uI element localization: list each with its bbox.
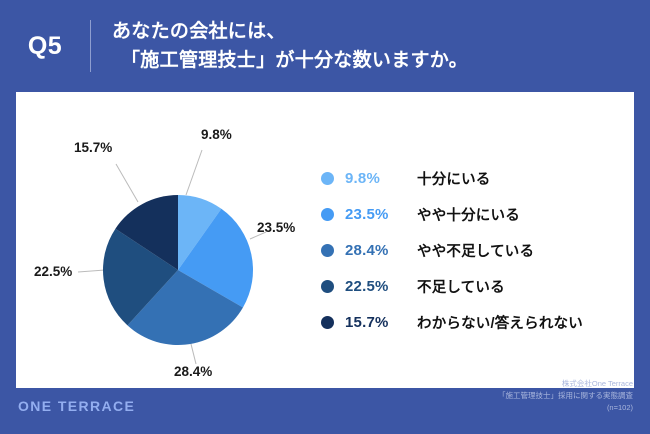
title-line-2: 「施工管理技士」が十分な数いますか。 [112, 46, 468, 75]
pie-slices [103, 195, 253, 345]
survey-credit: 株式会社One Terrace 「施工管理技士」採用に関する実態調査 (n=10… [498, 378, 633, 414]
legend-label: わからない/答えられない [417, 312, 583, 333]
legend-percent: 23.5% [345, 206, 417, 223]
title-line-1: あなたの会社には、 [112, 21, 286, 42]
pie-label-jubun-ni-iru: 9.8% [201, 127, 232, 142]
legend-dot-icon [321, 280, 334, 293]
legend-dot-icon [321, 172, 334, 185]
chart-legend: 9.8% 十分にいる 23.5% やや十分にいる 28.4% やや不足している … [321, 160, 631, 340]
legend-label: やや十分にいる [417, 204, 520, 225]
legend-item-jubun-ni-iru: 9.8% 十分にいる [321, 160, 631, 196]
pie-chart-svg [16, 92, 336, 388]
pie-label-yaya-fusoku: 28.4% [174, 364, 212, 379]
legend-dot-icon [321, 316, 334, 329]
legend-label: やや不足している [417, 240, 534, 261]
pie-label-fusoku: 22.5% [34, 264, 72, 279]
legend-percent: 9.8% [345, 170, 417, 187]
legend-percent: 28.4% [345, 242, 417, 259]
legend-percent: 15.7% [345, 314, 417, 331]
legend-percent: 22.5% [345, 278, 417, 295]
pie-label-wakaranai: 15.7% [74, 140, 112, 155]
legend-item-fusoku: 22.5% 不足している [321, 268, 631, 304]
chart-card: 9.8% 23.5% 28.4% 22.5% 15.7% 9.8% 十分にいる … [16, 92, 634, 388]
page-title: あなたの会社には、 「施工管理技士」が十分な数いますか。 [91, 17, 468, 76]
legend-label: 十分にいる [417, 168, 491, 189]
credit-sample-size: (n=102) [498, 402, 633, 414]
legend-item-yaya-jubun-ni-iru: 23.5% やや十分にいる [321, 196, 631, 232]
legend-item-wakaranai: 15.7% わからない/答えられない [321, 304, 631, 340]
pie-chart: 9.8% 23.5% 28.4% 22.5% 15.7% [16, 92, 336, 388]
one-terrace-logo: ONE TERRACE [18, 398, 135, 414]
credit-survey-name: 「施工管理技士」採用に関する実態調査 [498, 390, 633, 402]
pie-label-yaya-jubun-ni-iru: 23.5% [257, 220, 295, 235]
credit-company: 株式会社One Terrace [498, 378, 633, 390]
legend-item-yaya-fusoku: 28.4% やや不足している [321, 232, 631, 268]
question-number: Q5 [0, 32, 90, 61]
header-bar: Q5 あなたの会社には、 「施工管理技士」が十分な数いますか。 [0, 0, 650, 92]
legend-dot-icon [321, 244, 334, 257]
legend-label: 不足している [417, 276, 505, 297]
legend-dot-icon [321, 208, 334, 221]
